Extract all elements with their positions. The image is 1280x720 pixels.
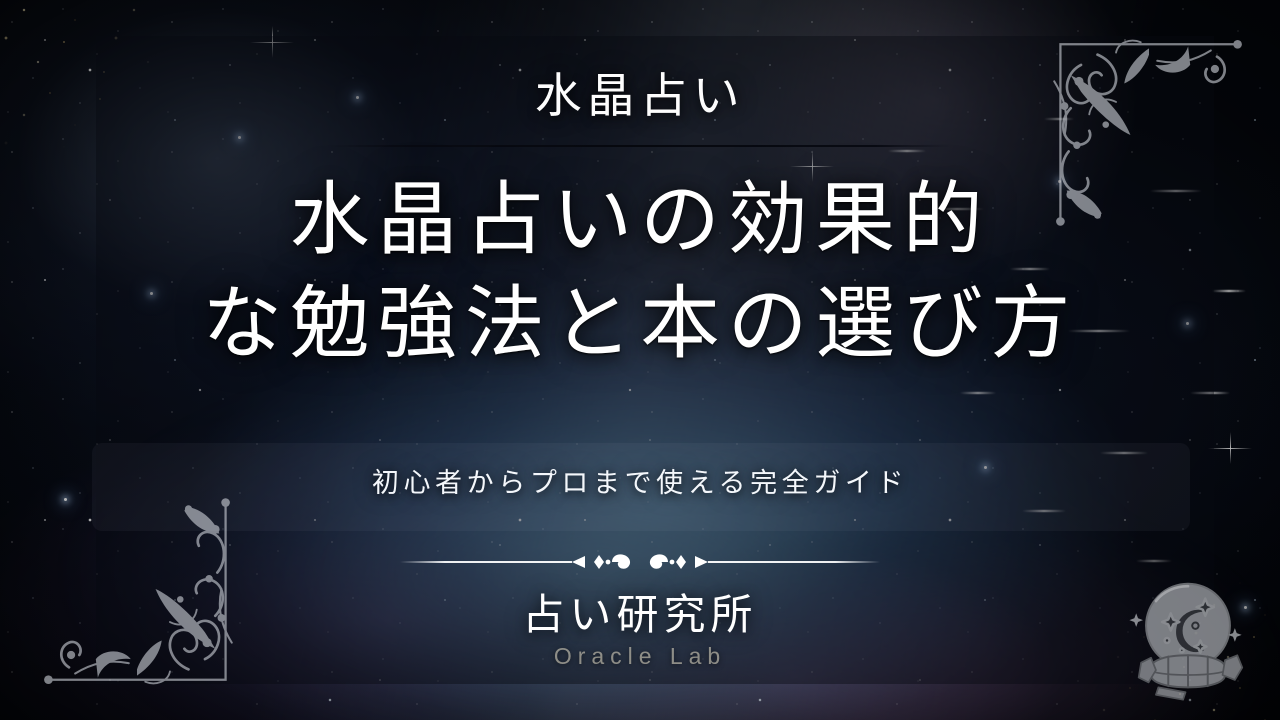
divider-line-right: [708, 561, 880, 563]
brand-name-ja: 占い研究所: [0, 581, 1280, 642]
crystal-ball-icon: [1114, 564, 1262, 712]
category-eyebrow: 水晶占い: [535, 74, 746, 121]
page-subtitle: 初心者からプロまで使える完全ガイド: [0, 461, 1280, 500]
diamond-flourish-icon-right: [640, 551, 708, 573]
brand-name-en: Oracle Lab: [0, 643, 1280, 670]
diamond-flourish-icon-left: [572, 551, 640, 573]
page-title-line-1: 水晶占いの効果的: [70, 169, 1210, 273]
divider-line-left: [400, 561, 572, 563]
ornamental-divider: [0, 551, 1280, 573]
page-title-line-2: な勉強法と本の選び方: [70, 273, 1210, 377]
header-rule: [330, 145, 950, 147]
thumbnail-canvas: 水晶占い 水晶占いの効果的 な勉強法と本の選び方 初心者からプロまで使える完全ガ…: [0, 0, 1280, 720]
page-title: 水晶占いの効果的 な勉強法と本の選び方: [70, 169, 1210, 377]
